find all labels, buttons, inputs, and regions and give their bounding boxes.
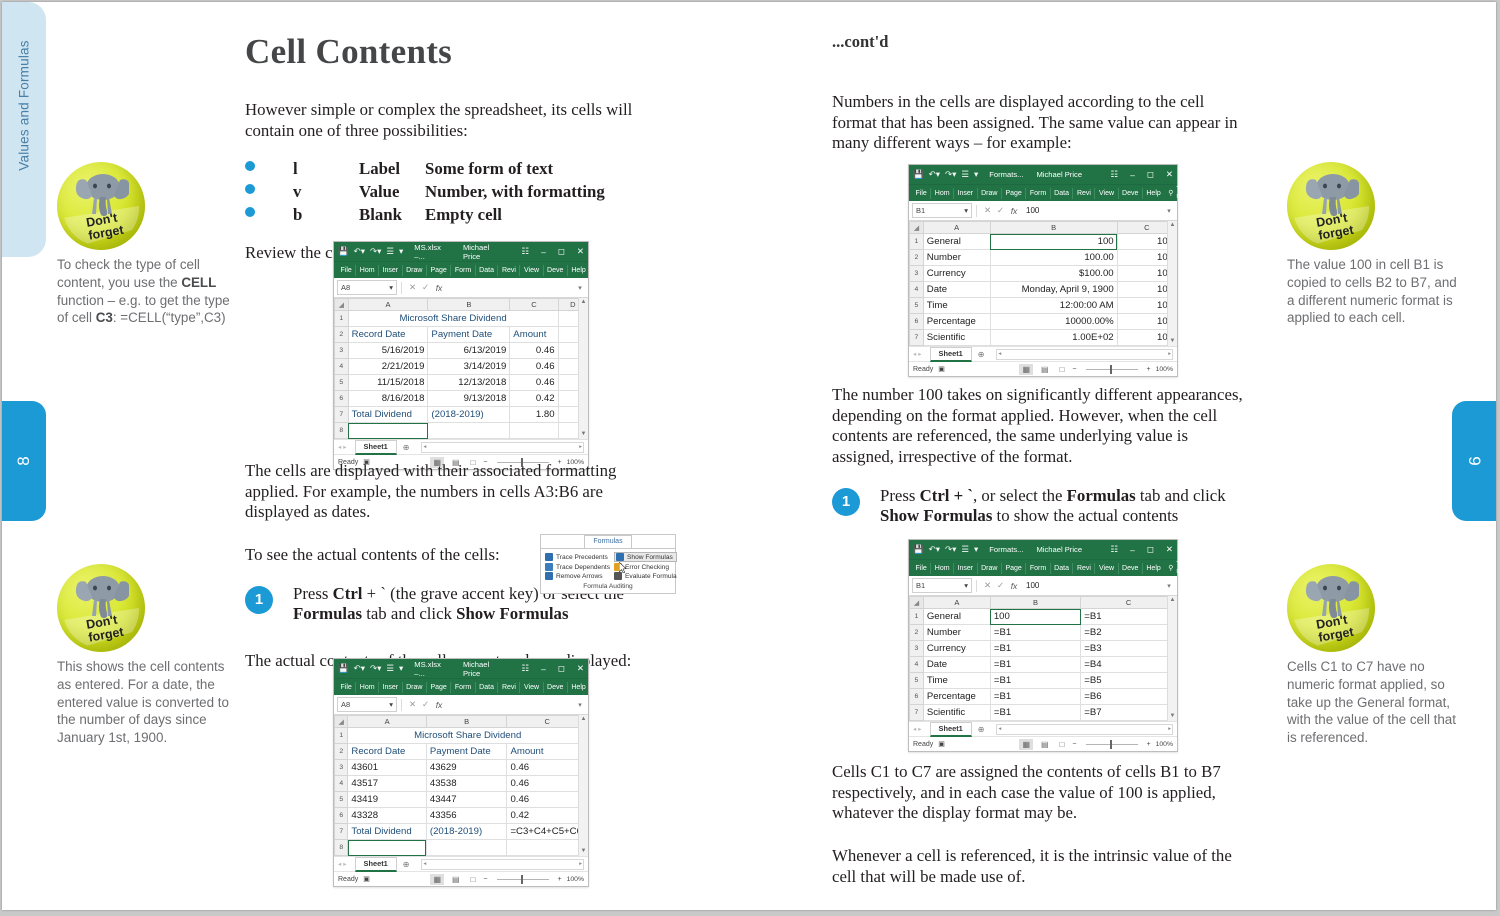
ribbon-tab-draw[interactable]: Draw [402,265,426,276]
ribbon-tab-view[interactable]: View [519,265,542,276]
ribbon-tab-file[interactable]: File [337,682,355,693]
cell[interactable]: 100 [990,609,1080,625]
row-header-5[interactable]: 5 [910,673,924,689]
expand-formula-bar-icon[interactable]: ▾ [575,701,585,709]
ribbon-command-trace dependents[interactable]: Trace Dependents [545,563,610,571]
ribbon-tab-hom[interactable]: Hom [930,563,953,574]
close-button[interactable]: ✕ [1166,169,1173,180]
scroll-down-icon[interactable]: ▼ [579,847,588,856]
cell[interactable]: =B7 [1081,705,1177,721]
cell[interactable]: =B2 [1081,625,1177,641]
ribbon-tab-page[interactable]: Page [426,265,450,276]
cell[interactable]: 0.46 [510,343,558,359]
column-header-A[interactable]: A [923,222,990,234]
ribbon-tab-revi[interactable]: Revi [497,682,519,693]
ribbon-tab-hom[interactable]: Hom [355,682,378,693]
zoom-level[interactable]: 100% [1156,741,1173,748]
row-header-5[interactable]: 5 [335,792,348,808]
ribbon-command-show formulas[interactable]: Show Formulas [614,552,677,562]
touch-mode-icon[interactable]: ☰ [386,663,394,674]
cell[interactable]: 10000.00% [990,314,1117,330]
accessibility-icon[interactable]: ▣ [938,740,945,748]
insert-function-icon[interactable]: fx [1007,581,1021,591]
page-break-view-icon[interactable]: □ [468,874,479,885]
scroll-down-icon[interactable]: ▼ [1168,337,1177,346]
new-sheet-icon[interactable]: ⊕ [978,725,985,734]
column-header-A[interactable]: A [348,716,426,728]
cell[interactable]: 0.46 [507,792,588,808]
column-header-B[interactable]: B [990,597,1080,609]
cell[interactable]: 1.00E+02 [990,330,1117,346]
cell[interactable] [348,423,428,439]
page-layout-view-icon[interactable]: ▤ [449,874,463,885]
cell[interactable]: 8/16/2018 [348,391,428,407]
chevron-down-icon[interactable]: ▾ [389,700,393,709]
cell[interactable] [426,840,507,856]
cell[interactable]: Record Date [348,327,428,343]
customize-qat-icon[interactable]: ▾ [974,544,978,555]
expand-formula-bar-icon[interactable]: ▾ [1164,582,1174,590]
zoom-out-icon[interactable]: − [1072,366,1076,373]
ribbon-display-options-icon[interactable]: ☷ [521,663,529,674]
vertical-scrollbar[interactable]: ▲ ▼ [1167,596,1177,721]
tell-me-box[interactable]: ⚲Tell me [1168,561,1187,575]
row-header-8[interactable]: 8 [335,423,349,439]
ribbon-display-options-icon[interactable]: ☷ [1110,544,1118,555]
ribbon-tab-data[interactable]: Data [475,265,498,276]
worksheet-grid[interactable]: ◢ABC1Microsoft Share Dividend2Record Dat… [334,715,588,856]
ribbon-tab-inser[interactable]: Inser [378,682,402,693]
ribbon-tab-deve[interactable]: Deve [1118,188,1142,199]
touch-mode-icon[interactable]: ☰ [386,246,394,257]
column-header-A[interactable]: A [348,299,428,311]
cell[interactable]: 0.46 [510,375,558,391]
cell[interactable]: =B1 [990,673,1080,689]
horizontal-scrollbar[interactable]: ◂▸ [421,442,584,453]
insert-function-icon[interactable]: fx [432,700,446,710]
cell[interactable] [428,423,510,439]
sheet-nav-arrows[interactable]: ◂▸ [913,725,924,733]
cell[interactable]: Total Dividend [348,824,426,840]
ribbon-tab-page[interactable]: Page [1001,563,1025,574]
cell[interactable]: Date [923,657,990,673]
ribbon-tab-data[interactable]: Data [1050,188,1073,199]
sheet-tab-sheet1[interactable]: Sheet1 [355,857,397,872]
maximize-button[interactable]: ◻ [1147,169,1154,180]
row-header-7[interactable]: 7 [910,705,924,721]
row-header-3[interactable]: 3 [910,266,924,282]
insert-function-icon[interactable]: fx [432,283,446,293]
sheet-tab-sheet1[interactable]: Sheet1 [930,347,972,362]
ribbon-tab-draw[interactable]: Draw [977,563,1001,574]
tell-me-box[interactable]: ⚲Tell me [1168,186,1187,200]
zoom-level[interactable]: 100% [1156,366,1173,373]
row-header-8[interactable]: 8 [335,840,348,856]
scroll-up-icon[interactable]: ▲ [1168,596,1177,605]
cell[interactable]: Percentage [923,314,990,330]
column-header-B[interactable]: B [990,222,1117,234]
cell[interactable]: 43328 [348,808,426,824]
excel-window-raw-contents[interactable]: 💾 ↶▾ ↷▾ ☰ ▾ MS.xlsx –... Michael Price ☷… [333,658,589,887]
cell[interactable]: General [923,234,990,250]
cell[interactable]: 12:00:00 AM [990,298,1117,314]
ribbon-tab-help[interactable]: Help [1142,563,1164,574]
zoom-out-icon[interactable]: − [483,876,487,883]
column-header-C[interactable]: C [510,299,558,311]
redo-icon[interactable]: ↷▾ [945,544,956,555]
cell[interactable]: 43419 [348,792,426,808]
cell[interactable] [348,840,426,856]
scroll-up-icon[interactable]: ▲ [1168,221,1177,230]
undo-icon[interactable]: ↶▾ [929,169,940,180]
vertical-scrollbar[interactable]: ▲ ▼ [1167,221,1177,346]
row-header-2[interactable]: 2 [335,744,348,760]
accept-entry-icon[interactable]: ✓ [419,282,432,293]
normal-view-icon[interactable]: ▦ [1019,739,1033,750]
minimize-button[interactable]: – [541,664,546,674]
ribbon-tab-file[interactable]: File [912,563,930,574]
accept-entry-icon[interactable]: ✓ [994,580,1007,591]
save-icon[interactable]: 💾 [913,544,924,555]
horizontal-scrollbar[interactable]: ◂▸ [996,349,1173,360]
page-layout-view-icon[interactable]: ▤ [1038,739,1052,750]
accessibility-icon[interactable]: ▣ [938,365,945,373]
ribbon-tab-page[interactable]: Page [426,682,450,693]
close-button[interactable]: ✕ [577,663,584,674]
column-header-A[interactable]: A [923,597,990,609]
ribbon-tab-revi[interactable]: Revi [497,265,519,276]
undo-icon[interactable]: ↶▾ [354,246,365,257]
vertical-scrollbar[interactable]: ▲ ▼ [578,298,588,439]
cell[interactable]: 0.46 [507,760,588,776]
name-box[interactable]: B1▾ [912,203,972,218]
ribbon-tab-form[interactable]: Form [1025,188,1049,199]
cell[interactable]: 2/21/2019 [348,359,428,375]
scroll-up-icon[interactable]: ▲ [579,298,588,307]
ribbon-tab-inser[interactable]: Inser [953,188,977,199]
scroll-right-icon[interactable]: ▸ [579,444,582,450]
cell[interactable]: 43538 [426,776,507,792]
row-header-1[interactable]: 1 [910,609,924,625]
cell[interactable]: 100 [990,234,1117,250]
row-header-5[interactable]: 5 [910,298,924,314]
ribbon-command-evaluate formula[interactable]: Evaluate Formula [614,572,677,580]
row-header-3[interactable]: 3 [910,641,924,657]
ribbon-tab-data[interactable]: Data [1050,563,1073,574]
scroll-left-icon[interactable]: ◂ [998,726,1001,732]
accept-entry-icon[interactable]: ✓ [994,205,1007,216]
ribbon-tab-revi[interactable]: Revi [1072,563,1094,574]
ribbon-tab-draw[interactable]: Draw [977,188,1001,199]
minimize-button[interactable]: – [1130,545,1135,555]
row-header-1[interactable]: 1 [910,234,924,250]
cell[interactable]: Scientific [923,330,990,346]
ribbon-tab-hom[interactable]: Hom [355,265,378,276]
column-header-C[interactable]: C [1081,597,1177,609]
row-header-6[interactable]: 6 [910,689,924,705]
expand-formula-bar-icon[interactable]: ▾ [575,284,585,292]
row-header-4[interactable]: 4 [910,282,924,298]
chevron-down-icon[interactable]: ▾ [964,581,968,590]
row-header-6[interactable]: 6 [335,391,349,407]
row-header-4[interactable]: 4 [335,359,349,375]
chevron-down-icon[interactable]: ▾ [389,283,393,292]
maximize-button[interactable]: ◻ [558,663,565,674]
new-sheet-icon[interactable]: ⊕ [978,350,985,359]
ribbon-tab-view[interactable]: View [1094,188,1117,199]
cell[interactable]: =B4 [1081,657,1177,673]
touch-mode-icon[interactable]: ☰ [961,544,969,555]
cell[interactable]: 0.42 [510,391,558,407]
column-header-B[interactable]: B [426,716,507,728]
ribbon-tab-data[interactable]: Data [475,682,498,693]
row-header-7[interactable]: 7 [910,330,924,346]
redo-icon[interactable]: ↷▾ [945,169,956,180]
cell[interactable]: =B5 [1081,673,1177,689]
zoom-slider[interactable] [497,879,549,880]
touch-mode-icon[interactable]: ☰ [961,169,969,180]
cell[interactable]: Microsoft Share Dividend [348,728,588,744]
row-header-7[interactable]: 7 [335,407,349,423]
normal-view-icon[interactable]: ▦ [1019,364,1033,375]
sheet-nav-arrows[interactable]: ◂▸ [913,350,924,358]
customize-qat-icon[interactable]: ▾ [399,663,403,674]
maximize-button[interactable]: ◻ [1147,544,1154,555]
row-header-2[interactable]: 2 [335,327,349,343]
scroll-right-icon[interactable]: ▸ [579,861,582,867]
ribbon-tab-form[interactable]: Form [450,265,474,276]
cell[interactable]: Number [923,625,990,641]
ribbon-command-trace precedents[interactable]: Trace Precedents [545,552,610,562]
close-button[interactable]: ✕ [1166,544,1173,555]
page-layout-view-icon[interactable]: ▤ [1038,364,1052,375]
cell[interactable]: Scientific [923,705,990,721]
row-header-5[interactable]: 5 [335,375,349,391]
sheet-nav-arrows[interactable]: ◂▸ [338,443,349,451]
formula-input[interactable]: 100 [1021,206,1164,215]
cell[interactable]: =B3 [1081,641,1177,657]
cell[interactable]: 100.00 [990,250,1117,266]
scroll-left-icon[interactable]: ◂ [998,351,1001,357]
cancel-entry-icon[interactable]: ✕ [406,699,419,710]
scroll-right-icon[interactable]: ▸ [1168,351,1171,357]
scroll-right-icon[interactable]: ▸ [1168,726,1171,732]
ribbon-tab-deve[interactable]: Deve [1118,563,1142,574]
cell[interactable] [510,423,558,439]
cell[interactable]: 43447 [426,792,507,808]
ribbon-tab-view[interactable]: View [519,682,542,693]
close-button[interactable]: ✕ [577,246,584,257]
cell[interactable]: 43517 [348,776,426,792]
row-header-7[interactable]: 7 [335,824,348,840]
worksheet-grid[interactable]: ◢ABC1General1001002Number100.001003Curre… [909,221,1177,346]
ribbon-tab-inser[interactable]: Inser [378,265,402,276]
ribbon-command-remove arrows[interactable]: Remove Arrows [545,572,610,580]
horizontal-scrollbar[interactable]: ◂▸ [421,859,584,870]
formula-auditing-ribbon-snippet[interactable]: Formulas Trace Precedents Show Formulas … [540,534,676,594]
accept-entry-icon[interactable]: ✓ [419,699,432,710]
name-box[interactable]: A8▾ [337,697,397,712]
cell[interactable]: Percentage [923,689,990,705]
row-header-2[interactable]: 2 [910,625,924,641]
cell[interactable] [507,840,588,856]
minimize-button[interactable]: – [1130,170,1135,180]
cell[interactable]: 3/14/2019 [428,359,510,375]
name-box[interactable]: B1▾ [912,578,972,593]
cell[interactable]: =B1 [990,689,1080,705]
scroll-down-icon[interactable]: ▼ [579,430,588,439]
row-header-1[interactable]: 1 [335,728,348,744]
ribbon-tab-form[interactable]: Form [450,682,474,693]
zoom-in-icon[interactable]: + [1147,366,1151,373]
worksheet-grid[interactable]: ◢ABCD1Microsoft Share Dividend2Record Da… [334,298,588,439]
cell[interactable]: Amount [510,327,558,343]
excel-window-formula-view[interactable]: 💾 ↶▾ ↷▾ ☰ ▾ Formats... Michael Price ☷ –… [908,539,1178,752]
row-header-3[interactable]: 3 [335,343,349,359]
sheet-nav-arrows[interactable]: ◂▸ [338,860,349,868]
cell[interactable]: Currency [923,641,990,657]
scroll-down-icon[interactable]: ▼ [1168,712,1177,721]
cell[interactable]: Microsoft Share Dividend [348,311,558,327]
ribbon-tab-page[interactable]: Page [1001,188,1025,199]
horizontal-scrollbar[interactable]: ◂▸ [996,724,1173,735]
cell[interactable]: 43629 [426,760,507,776]
ribbon-tab-draw[interactable]: Draw [402,682,426,693]
page-break-view-icon[interactable]: □ [1057,364,1068,375]
sheet-tab-sheet1[interactable]: Sheet1 [355,440,397,455]
column-header-C[interactable]: C [507,716,588,728]
cell[interactable]: 1.80 [510,407,558,423]
cancel-entry-icon[interactable]: ✕ [981,205,994,216]
ribbon-display-options-icon[interactable]: ☷ [1110,169,1118,180]
ribbon-display-options-icon[interactable]: ☷ [521,246,529,257]
cell[interactable]: 5/16/2019 [348,343,428,359]
cell[interactable]: $100.00 [990,266,1117,282]
tell-me-box[interactable]: ⚲Tell me [593,680,612,694]
cell[interactable]: Monday, April 9, 1900 [990,282,1117,298]
zoom-slider[interactable] [1086,744,1138,745]
customize-qat-icon[interactable]: ▾ [974,169,978,180]
cell[interactable]: =B1 [990,641,1080,657]
undo-icon[interactable]: ↶▾ [929,544,940,555]
ribbon-tab-form[interactable]: Form [1025,563,1049,574]
sheet-tab-sheet1[interactable]: Sheet1 [930,722,972,737]
cell[interactable]: Payment Date [426,744,507,760]
row-header-1[interactable]: 1 [335,311,349,327]
cell[interactable]: =B1 [990,657,1080,673]
cell[interactable]: 6/13/2019 [428,343,510,359]
cell[interactable]: 9/13/2018 [428,391,510,407]
cell[interactable]: 11/15/2018 [348,375,428,391]
accessibility-icon[interactable]: ▣ [363,875,370,883]
row-header-2[interactable]: 2 [910,250,924,266]
row-header-3[interactable]: 3 [335,760,348,776]
cell[interactable]: Number [923,250,990,266]
cell[interactable]: Time [923,298,990,314]
cell[interactable]: =B6 [1081,689,1177,705]
cell[interactable]: Date [923,282,990,298]
cell[interactable]: General [923,609,990,625]
row-header-6[interactable]: 6 [910,314,924,330]
cell[interactable]: =B1 [1081,609,1177,625]
page-break-view-icon[interactable]: □ [1057,739,1068,750]
cell[interactable]: Time [923,673,990,689]
chevron-down-icon[interactable]: ▾ [964,206,968,215]
redo-icon[interactable]: ↷▾ [370,663,381,674]
name-box[interactable]: A8▾ [337,280,397,295]
cell[interactable]: Amount [507,744,588,760]
cell[interactable]: 0.46 [507,776,588,792]
tell-me-box[interactable]: ⚲Tell me [593,263,612,277]
customize-qat-icon[interactable]: ▾ [399,246,403,257]
cell[interactable]: Payment Date [428,327,510,343]
new-sheet-icon[interactable]: ⊕ [403,860,410,869]
worksheet-grid[interactable]: ◢ABC1General100=B12Number=B1=B23Currency… [909,596,1177,721]
cell[interactable]: =B1 [990,705,1080,721]
formula-input[interactable]: 100 [1021,581,1164,590]
save-icon[interactable]: 💾 [338,663,349,674]
zoom-out-icon[interactable]: − [1072,741,1076,748]
cell[interactable]: 0.46 [510,359,558,375]
cell[interactable]: =C3+C4+C5+C6 [507,824,588,840]
zoom-slider[interactable] [1086,369,1138,370]
cell[interactable]: 43356 [426,808,507,824]
row-header-4[interactable]: 4 [335,776,348,792]
ribbon-tab-revi[interactable]: Revi [1072,188,1094,199]
cell[interactable]: 0.42 [507,808,588,824]
zoom-in-icon[interactable]: + [1147,741,1151,748]
maximize-button[interactable]: ◻ [558,246,565,257]
save-icon[interactable]: 💾 [913,169,924,180]
ribbon-tab-formulas[interactable]: Formulas [584,535,631,548]
expand-formula-bar-icon[interactable]: ▾ [1164,207,1174,215]
minimize-button[interactable]: – [541,247,546,257]
ribbon-tab-inser[interactable]: Inser [953,563,977,574]
ribbon-tab-help[interactable]: Help [1142,188,1164,199]
ribbon-tab-file[interactable]: File [337,265,355,276]
cell[interactable]: =B1 [990,625,1080,641]
ribbon-tab-file[interactable]: File [912,188,930,199]
column-header-B[interactable]: B [428,299,510,311]
ribbon-tab-deve[interactable]: Deve [543,265,567,276]
row-header-4[interactable]: 4 [910,657,924,673]
ribbon-tab-view[interactable]: View [1094,563,1117,574]
select-all-corner[interactable]: ◢ [910,597,924,609]
row-header-6[interactable]: 6 [335,808,348,824]
cancel-entry-icon[interactable]: ✕ [406,282,419,293]
insert-function-icon[interactable]: fx [1007,206,1021,216]
save-icon[interactable]: 💾 [338,246,349,257]
scroll-up-icon[interactable]: ▲ [579,715,588,724]
select-all-corner[interactable]: ◢ [335,299,349,311]
select-all-corner[interactable]: ◢ [910,222,924,234]
cell[interactable]: 43601 [348,760,426,776]
cell[interactable]: 12/13/2018 [428,375,510,391]
zoom-level[interactable]: 100% [567,876,584,883]
cell[interactable]: Total Dividend [348,407,428,423]
cell[interactable]: (2018-2019) [428,407,510,423]
zoom-in-icon[interactable]: + [558,876,562,883]
vertical-scrollbar[interactable]: ▲ ▼ [578,715,588,856]
excel-window-number-formats[interactable]: 💾 ↶▾ ↷▾ ☰ ▾ Formats... Michael Price ☷ –… [908,164,1178,377]
excel-window-formatted-dividends[interactable]: 💾 ↶▾ ↷▾ ☰ ▾ MS.xlsx –... Michael Price ☷… [333,241,589,470]
ribbon-tab-help[interactable]: Help [567,682,589,693]
cell[interactable]: Record Date [348,744,426,760]
ribbon-tab-hom[interactable]: Hom [930,188,953,199]
ribbon-tab-deve[interactable]: Deve [543,682,567,693]
undo-icon[interactable]: ↶▾ [354,663,365,674]
normal-view-icon[interactable]: ▦ [430,874,444,885]
